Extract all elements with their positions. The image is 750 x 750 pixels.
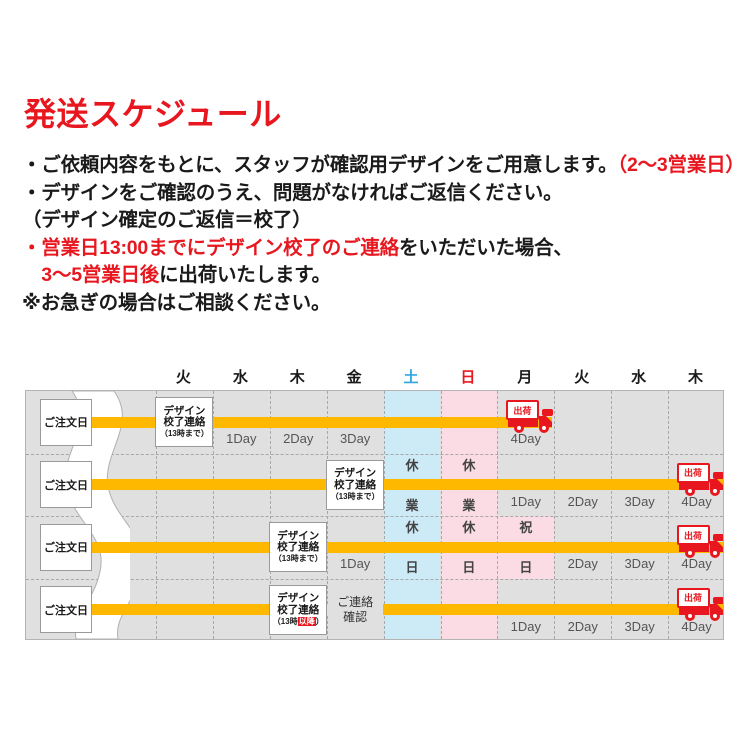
closure-glyph-lower: 日 (496, 557, 556, 576)
shipping-truck-icon: 出荷 (677, 525, 724, 561)
grid-column-divider (497, 391, 498, 639)
order-date-box: ご注文日 (40, 524, 92, 571)
proof-time-note: （13時まで） (274, 555, 323, 564)
order-date-box: ご注文日 (40, 586, 92, 633)
weekday-label-weekday: 木 (267, 366, 327, 387)
closure-glyph-upper: 休 (382, 455, 442, 474)
timeline-bar (130, 542, 269, 553)
closure-glyph-lower: 業 (382, 495, 442, 514)
shipping-schedule-table: 火水木金土日月火水木 ご注文日デザイン校了連絡（13時まで）1Day2Day3D… (25, 362, 724, 640)
grid-row-divider (26, 516, 723, 517)
day-count-label: 2Day (553, 556, 613, 571)
timeline-bar (130, 417, 155, 428)
shipping-truck-icon: 出荷 (506, 400, 562, 436)
weekday-label-weekday: 月 (495, 366, 555, 387)
shipping-truck-icon: 出荷 (677, 463, 724, 499)
intro-line: ※お急ぎの場合はご相談ください。 (22, 290, 736, 318)
proof-line-1: デザイン (334, 468, 376, 480)
weekend-column-saturday (384, 391, 441, 639)
day-count-label: 1Day (496, 619, 556, 634)
weekday-label-weekday: 木 (666, 366, 726, 387)
day-count-label: 1Day (211, 431, 271, 446)
proof-time-suffix: ） (316, 617, 324, 626)
closure-glyph-upper: 祝 (496, 517, 556, 536)
timeline-bar (92, 604, 130, 615)
timeline-bar (130, 479, 326, 490)
order-date-box: ご注文日 (40, 399, 92, 446)
intro-text-segment: をいただいた場合、 (399, 237, 573, 259)
weekday-label-weekday: 水 (609, 366, 669, 387)
order-date-box: ご注文日 (40, 461, 92, 508)
closure-glyph-upper: 休 (439, 455, 499, 474)
proof-line-2: 校了連絡 (163, 417, 205, 429)
page-title: 発送スケジュール (24, 98, 282, 130)
proof-approval-box: デザイン校了連絡（13時まで） (326, 460, 384, 510)
timeline-bar (327, 542, 722, 553)
closure-glyph-lower: 業 (439, 495, 499, 514)
proof-time-note: （13時まで） (331, 493, 380, 502)
intro-line: ・営業日13:00までにデザイン校了のご連絡をいただいた場合、 (22, 235, 736, 263)
proof-time-note: （13時以降） (273, 618, 324, 627)
timeline-bar (92, 479, 130, 490)
timeline-bar (327, 604, 722, 615)
contact-confirmation-note: ご連絡確認 (325, 595, 385, 625)
intro-text-segment: ・ご依頼内容をもとに、スタッフが確認用デザインをご用意します。 (22, 154, 617, 176)
weekday-label-weekday: 火 (552, 366, 612, 387)
intro-text-segment: ・デザインをご確認のうえ、問題がなければご返信ください。 (22, 182, 562, 204)
closure-glyph-lower: 日 (382, 557, 442, 576)
timeline-bar (92, 417, 130, 428)
day-count-label: 3Day (325, 431, 385, 446)
proof-time-mark: まで (299, 554, 315, 563)
proof-time-prefix: （13時 (274, 554, 299, 563)
ship-badge-label: 出荷 (506, 400, 539, 420)
weekday-label-weekday: 火 (153, 366, 213, 387)
grid-row-divider (26, 579, 723, 580)
timeline-bar (92, 542, 130, 553)
ship-badge-label: 出荷 (677, 463, 710, 483)
shipping-truck-icon: 出荷 (677, 588, 724, 624)
day-count-label: 3Day (610, 556, 670, 571)
proof-time-prefix: （13時 (331, 492, 356, 501)
proof-time-highlight: 以降 (298, 617, 316, 626)
proof-approval-box: デザイン校了連絡（13時まで） (269, 522, 327, 572)
weekday-label-weekday: 金 (324, 366, 384, 387)
intro-text-segment: に出荷いたします。 (159, 264, 331, 286)
schedule-grid-body: ご注文日デザイン校了連絡（13時まで）1Day2Day3Day4Day出荷ご注文… (25, 390, 724, 640)
day-count-label: 3Day (610, 494, 670, 509)
intro-text-segment: ※お急ぎの場合はご相談ください。 (22, 292, 330, 314)
closure-glyph-lower: 日 (439, 557, 499, 576)
day-count-label: 2Day (553, 494, 613, 509)
closure-glyph-upper: 休 (439, 517, 499, 536)
proof-approval-box: デザイン校了連絡（13時以降） (269, 585, 327, 635)
weekday-label-saturday: 土 (381, 366, 441, 387)
proof-time-prefix: （13時 (273, 617, 298, 626)
proof-time-note: （13時まで） (160, 430, 209, 439)
intro-text-segment: 3〜5営業日後 (22, 264, 159, 286)
intro-text-segment: （デザイン確定のご返信＝校了） (22, 209, 312, 231)
proof-time-mark: まで (185, 429, 201, 438)
proof-time-prefix: （13時 (160, 429, 185, 438)
weekday-label-sunday: 日 (438, 366, 498, 387)
timeline-bar (384, 479, 722, 490)
closure-glyph-upper: 休 (382, 517, 442, 536)
intro-text-segment: デザイン校了のご連絡 (206, 237, 399, 259)
proof-line-1: デザイン (277, 593, 319, 605)
day-count-label: 2Day (268, 431, 328, 446)
intro-line: ・デザインをご確認のうえ、問題がなければご返信ください。 (22, 180, 736, 208)
timeline-bar (130, 604, 269, 615)
intro-text-segment: （2〜3営業日） (617, 154, 744, 176)
intro-line: （デザイン確定のご返信＝校了） (22, 207, 736, 235)
grid-row-divider (26, 454, 723, 455)
intro-line: 3〜5営業日後に出荷いたします。 (22, 262, 736, 290)
note-line-1: ご連絡 (325, 595, 385, 610)
weekend-column-sunday (441, 391, 498, 639)
proof-time-suffix: ） (315, 554, 323, 563)
proof-approval-box: デザイン校了連絡（13時まで） (155, 397, 213, 447)
ship-badge-label: 出荷 (677, 525, 710, 545)
intro-text-segment: ・営業日13:00までに (22, 237, 206, 259)
proof-time-suffix: ） (201, 429, 209, 438)
proof-line-2: 校了連絡 (334, 480, 376, 492)
day-count-label: 3Day (610, 619, 670, 634)
grid-column-divider (611, 391, 612, 639)
note-line-2: 確認 (325, 610, 385, 625)
timeline-bar (213, 417, 551, 428)
weekday-header-row: 火水木金土日月火水木 (25, 362, 724, 390)
day-count-label: 2Day (553, 619, 613, 634)
ship-badge-label: 出荷 (677, 588, 710, 608)
proof-time-mark: まで (356, 492, 372, 501)
grid-column-divider (441, 391, 442, 639)
proof-line-2: 校了連絡 (277, 542, 319, 554)
day-count-label: 1Day (496, 494, 556, 509)
proof-line-2: 校了連絡 (277, 605, 319, 617)
intro-line: ・ご依頼内容をもとに、スタッフが確認用デザインをご用意します。（2〜3営業日） (22, 152, 736, 180)
grid-column-divider (668, 391, 669, 639)
weekday-label-weekday: 水 (210, 366, 270, 387)
proof-time-suffix: ） (372, 492, 380, 501)
intro-text-block: ・ご依頼内容をもとに、スタッフが確認用デザインをご用意します。（2〜3営業日）・… (22, 152, 736, 317)
day-count-label: 1Day (325, 556, 385, 571)
